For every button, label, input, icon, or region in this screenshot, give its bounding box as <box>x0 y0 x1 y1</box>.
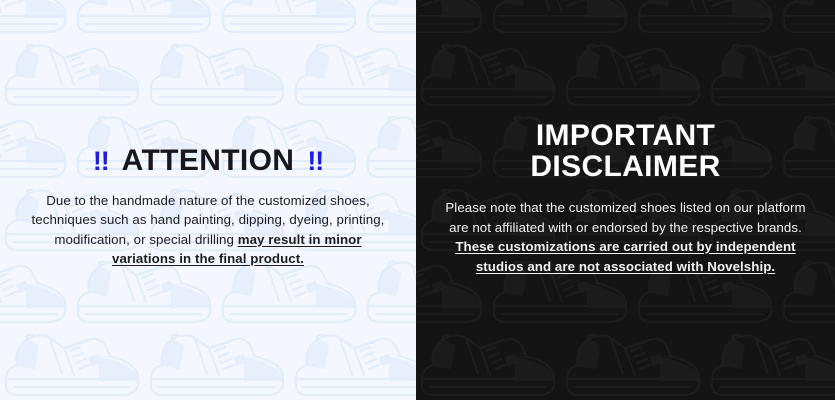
disclaimer-heading: IMPORTANT DISCLAIMER <box>440 120 811 182</box>
disclaimer-heading-line-2: DISCLAIMER <box>440 151 811 182</box>
disclaimer-body: Please note that the customized shoes li… <box>440 198 811 276</box>
disclaimer-content: IMPORTANT DISCLAIMER Please note that th… <box>416 120 835 281</box>
attention-heading: !! ATTENTION !! <box>24 145 392 176</box>
attention-heading-label: ATTENTION <box>122 145 295 176</box>
disclaimer-heading-line-1: IMPORTANT <box>440 120 811 151</box>
exclamation-icon-right: !! <box>307 147 323 175</box>
attention-panel: !! ATTENTION !! Due to the handmade natu… <box>0 0 416 400</box>
exclamation-icon-left: !! <box>93 147 109 175</box>
disclaimer-panel: IMPORTANT DISCLAIMER Please note that th… <box>416 0 835 400</box>
disclaimer-body-plain: Please note that the customized shoes li… <box>445 200 805 235</box>
attention-content: !! ATTENTION !! Due to the handmade natu… <box>0 131 416 268</box>
disclaimer-body-emphasis: These customizations are carried out by … <box>455 239 795 274</box>
disclaimer-banner: !! ATTENTION !! Due to the handmade natu… <box>0 0 835 400</box>
attention-body: Due to the handmade nature of the custom… <box>24 191 392 269</box>
